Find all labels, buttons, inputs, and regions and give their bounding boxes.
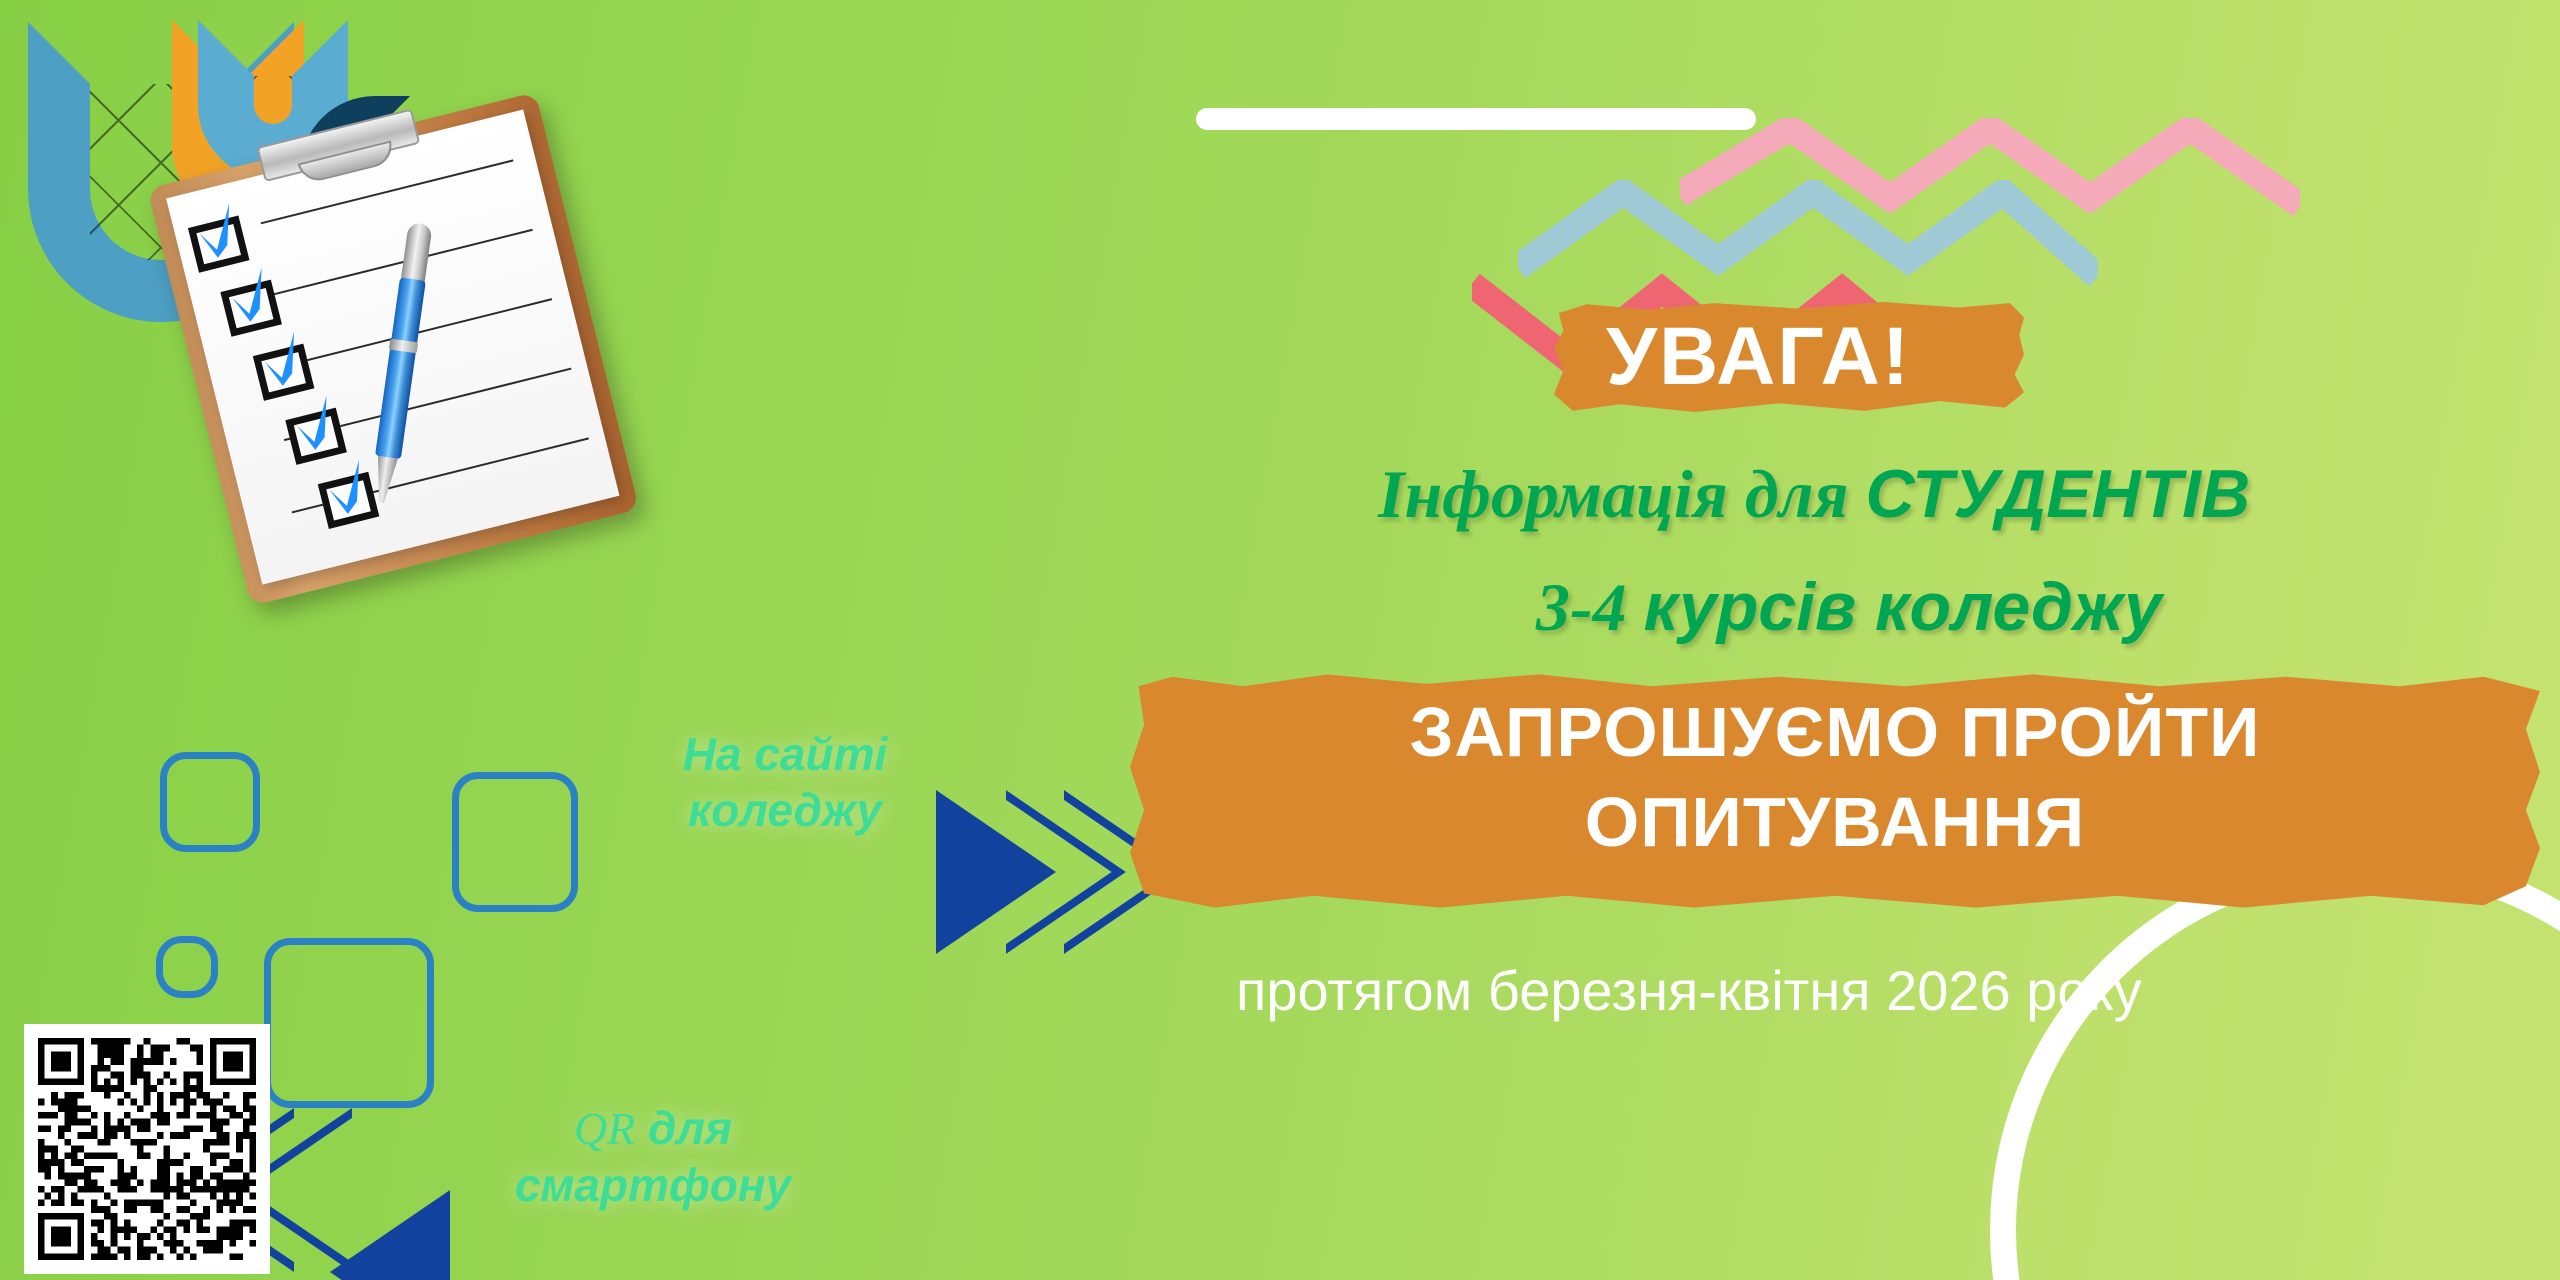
qr-label-prefix: QR: [574, 1103, 635, 1154]
info-line-2-bold: курсів коледжу: [1644, 569, 2162, 645]
invite-callout: ЗАПРОШУЄМО ПРОЙТИ ОПИТУВАННЯ: [1130, 688, 2540, 867]
clipboard-illustration: [97, 45, 723, 656]
survey-announcement-banner: УВАГА! Інформація для СТУДЕНТІВ 3-4 курс…: [0, 0, 2560, 1280]
decorative-rounded-square-2: [452, 772, 578, 912]
decorative-rounded-square-4: [264, 938, 434, 1108]
decorative-white-bar: [1196, 108, 1756, 130]
qr-code-survey-link[interactable]: [24, 1024, 270, 1274]
info-line-1-bold: СТУДЕНТІВ: [1866, 456, 2251, 532]
attention-headline: УВАГА!: [1606, 316, 1911, 398]
info-line-1-plain: Інформація для: [1378, 456, 1866, 532]
arrow-triangle-filled-right: [936, 790, 1056, 954]
attention-headline-group: УВАГА!: [1606, 316, 1911, 398]
qr-label-line-2: смартфону: [478, 1157, 828, 1213]
decorative-rounded-square-1: [160, 752, 260, 852]
info-line-2-plain: 3-4: [1536, 569, 1644, 645]
site-label: На сайті коледжу: [640, 726, 930, 838]
site-label-line-2: коледжу: [640, 782, 930, 838]
qr-label: QR для смартфону: [478, 1100, 828, 1213]
qr-label-rest: для: [635, 1102, 732, 1154]
arrow-triangle-outline-right-1: [1006, 790, 1126, 954]
arrow-triangle-filled-left: [330, 1190, 450, 1280]
info-line-1: Інформація для СТУДЕНТІВ: [1378, 455, 2250, 534]
site-label-line-1: На сайті: [640, 726, 930, 782]
survey-period-text: протягом березня-квітня 2026 року: [1236, 958, 2142, 1023]
invite-line-2: ОПИТУВАННЯ: [1130, 778, 2540, 868]
pen-icon: [370, 222, 433, 493]
qr-label-line-1: QR для: [478, 1100, 828, 1157]
info-line-2: 3-4 курсів коледжу: [1536, 568, 2162, 647]
invite-line-1: ЗАПРОШУЄМО ПРОЙТИ: [1130, 688, 2540, 778]
decorative-rounded-square-3: [156, 936, 218, 998]
